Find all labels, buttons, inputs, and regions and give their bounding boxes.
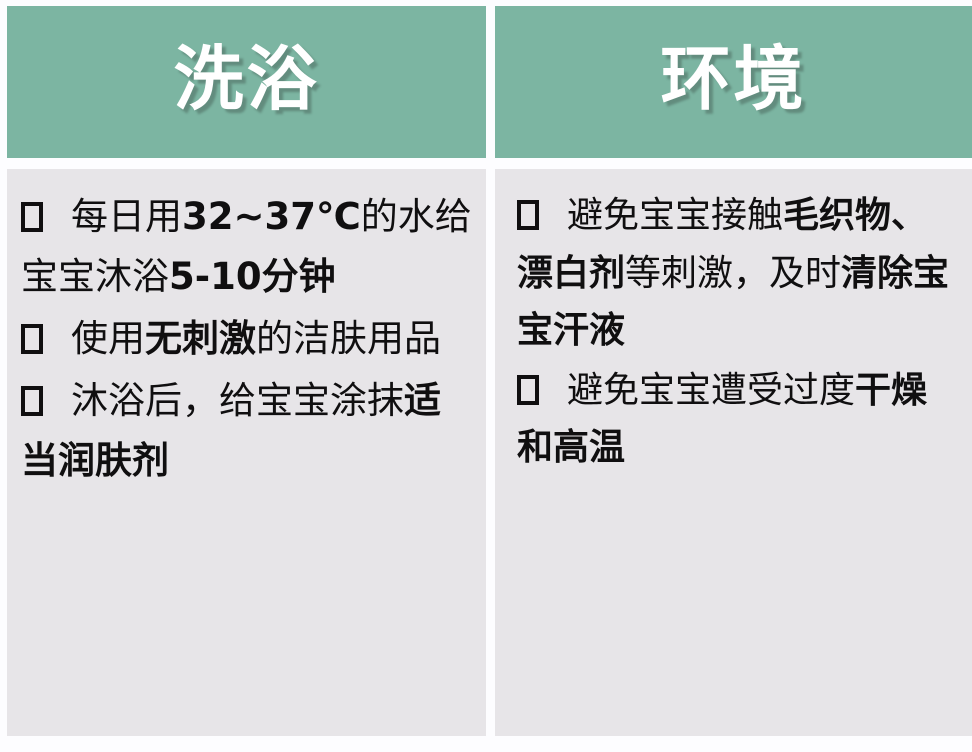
list-item: 使用无刺激的洁肤用品 — [21, 309, 472, 369]
bullet-text: 每日用32~37℃的水给宝宝沐浴5-10分钟 — [21, 195, 472, 298]
column-header-title-bathing: 洗浴 — [174, 44, 320, 120]
body-cell-bathing: 每日用32~37℃的水给宝宝沐浴5-10分钟 使用无刺激的洁肤用品 沐浴后，给宝… — [7, 169, 486, 736]
list-item: 沐浴后，给宝宝涂抹适当润肤剂 — [21, 371, 472, 491]
box-bullet-icon — [517, 200, 539, 230]
list-item: 避免宝宝遭受过度干燥和高温 — [517, 362, 958, 477]
column-header-title-environment: 环境 — [661, 44, 807, 120]
bullet-text: 避免宝宝遭受过度干燥和高温 — [517, 370, 927, 469]
bullet-text: 避免宝宝接触毛织物、漂白剂等刺激，及时清除宝宝汗液 — [517, 195, 949, 351]
table-body-row: 每日用32~37℃的水给宝宝沐浴5-10分钟 使用无刺激的洁肤用品 沐浴后，给宝… — [7, 169, 972, 736]
header-cell-environment: 环境 — [495, 6, 972, 158]
table-header-row: 洗浴 环境 — [7, 6, 972, 158]
list-item: 避免宝宝接触毛织物、漂白剂等刺激，及时清除宝宝汗液 — [517, 187, 958, 360]
box-bullet-icon — [21, 386, 43, 416]
body-cell-environment: 避免宝宝接触毛织物、漂白剂等刺激，及时清除宝宝汗液 避免宝宝遭受过度干燥和高温 — [495, 169, 972, 736]
box-bullet-icon — [21, 202, 43, 232]
slide-canvas: 洗浴 环境 每日用32~37℃的水给宝宝沐浴5-10分钟 使用无刺激的洁肤用品 … — [0, 0, 972, 752]
box-bullet-icon — [21, 324, 43, 354]
header-cell-bathing: 洗浴 — [7, 6, 486, 158]
list-item: 每日用32~37℃的水给宝宝沐浴5-10分钟 — [21, 187, 472, 307]
bullet-text: 使用无刺激的洁肤用品 — [71, 317, 441, 360]
box-bullet-icon — [517, 375, 539, 405]
two-column-table: 洗浴 环境 每日用32~37℃的水给宝宝沐浴5-10分钟 使用无刺激的洁肤用品 … — [7, 6, 972, 736]
bullet-text: 沐浴后，给宝宝涂抹适当润肤剂 — [21, 379, 441, 482]
